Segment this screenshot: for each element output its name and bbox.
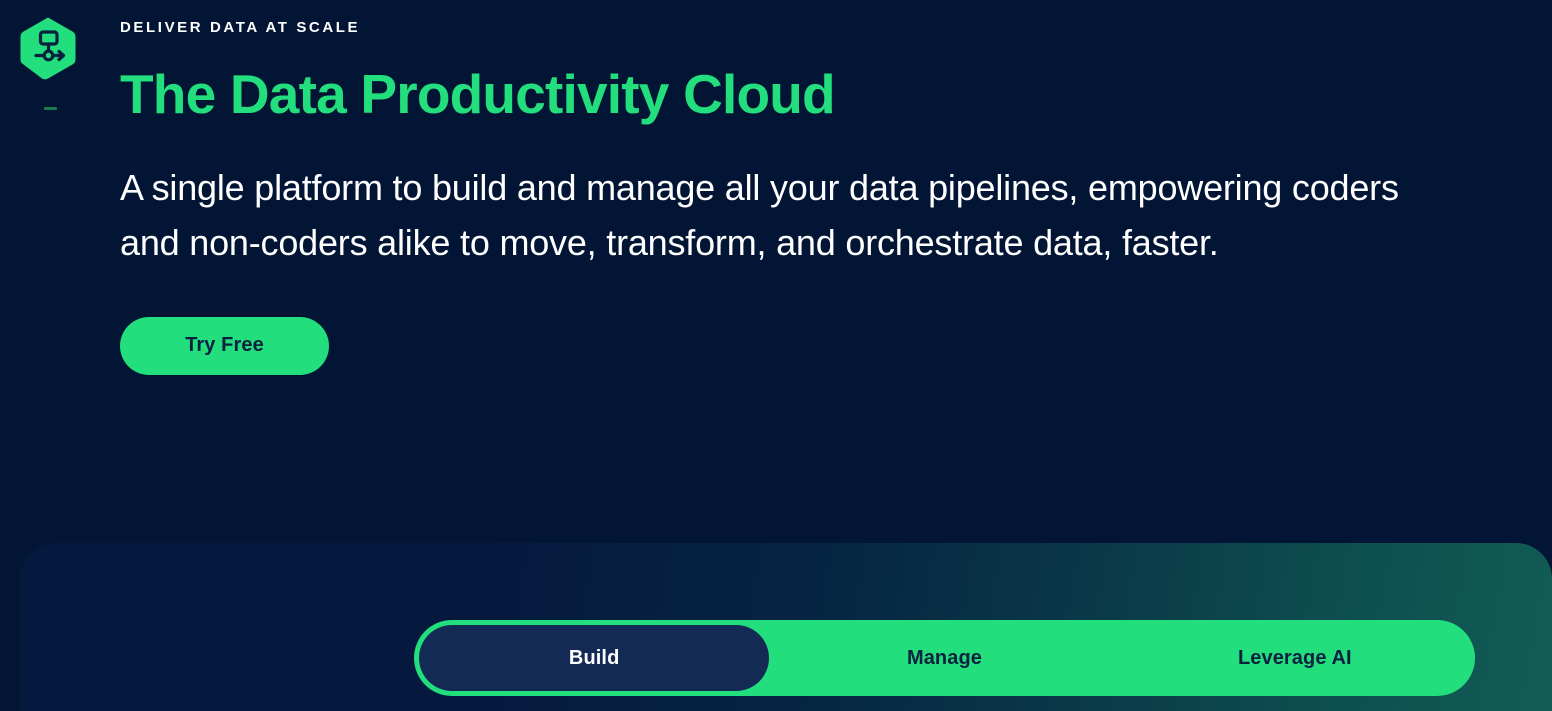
- brand-logo[interactable]: [18, 16, 78, 80]
- try-free-button[interactable]: Try Free: [120, 317, 329, 375]
- tab-leverage-ai[interactable]: Leverage AI: [1120, 625, 1470, 691]
- page-title: The Data Productivity Cloud: [120, 66, 1520, 124]
- feature-tab-bar: Build Manage Leverage AI: [414, 620, 1475, 696]
- hero-section: DELIVER DATA AT SCALE The Data Productiv…: [0, 0, 1552, 543]
- feature-panel: Build Manage Leverage AI: [20, 543, 1552, 711]
- hero-content: DELIVER DATA AT SCALE The Data Productiv…: [120, 0, 1520, 375]
- tab-build[interactable]: Build: [419, 625, 769, 691]
- tab-manage[interactable]: Manage: [769, 625, 1119, 691]
- hero-cta-row: Try Free: [120, 317, 1520, 375]
- hero-eyebrow: DELIVER DATA AT SCALE: [120, 18, 1520, 38]
- pipeline-hexagon-logo-icon: [18, 16, 78, 80]
- hero-subheadline: A single platform to build and manage al…: [120, 161, 1430, 270]
- logo-underline-accent: [44, 107, 57, 110]
